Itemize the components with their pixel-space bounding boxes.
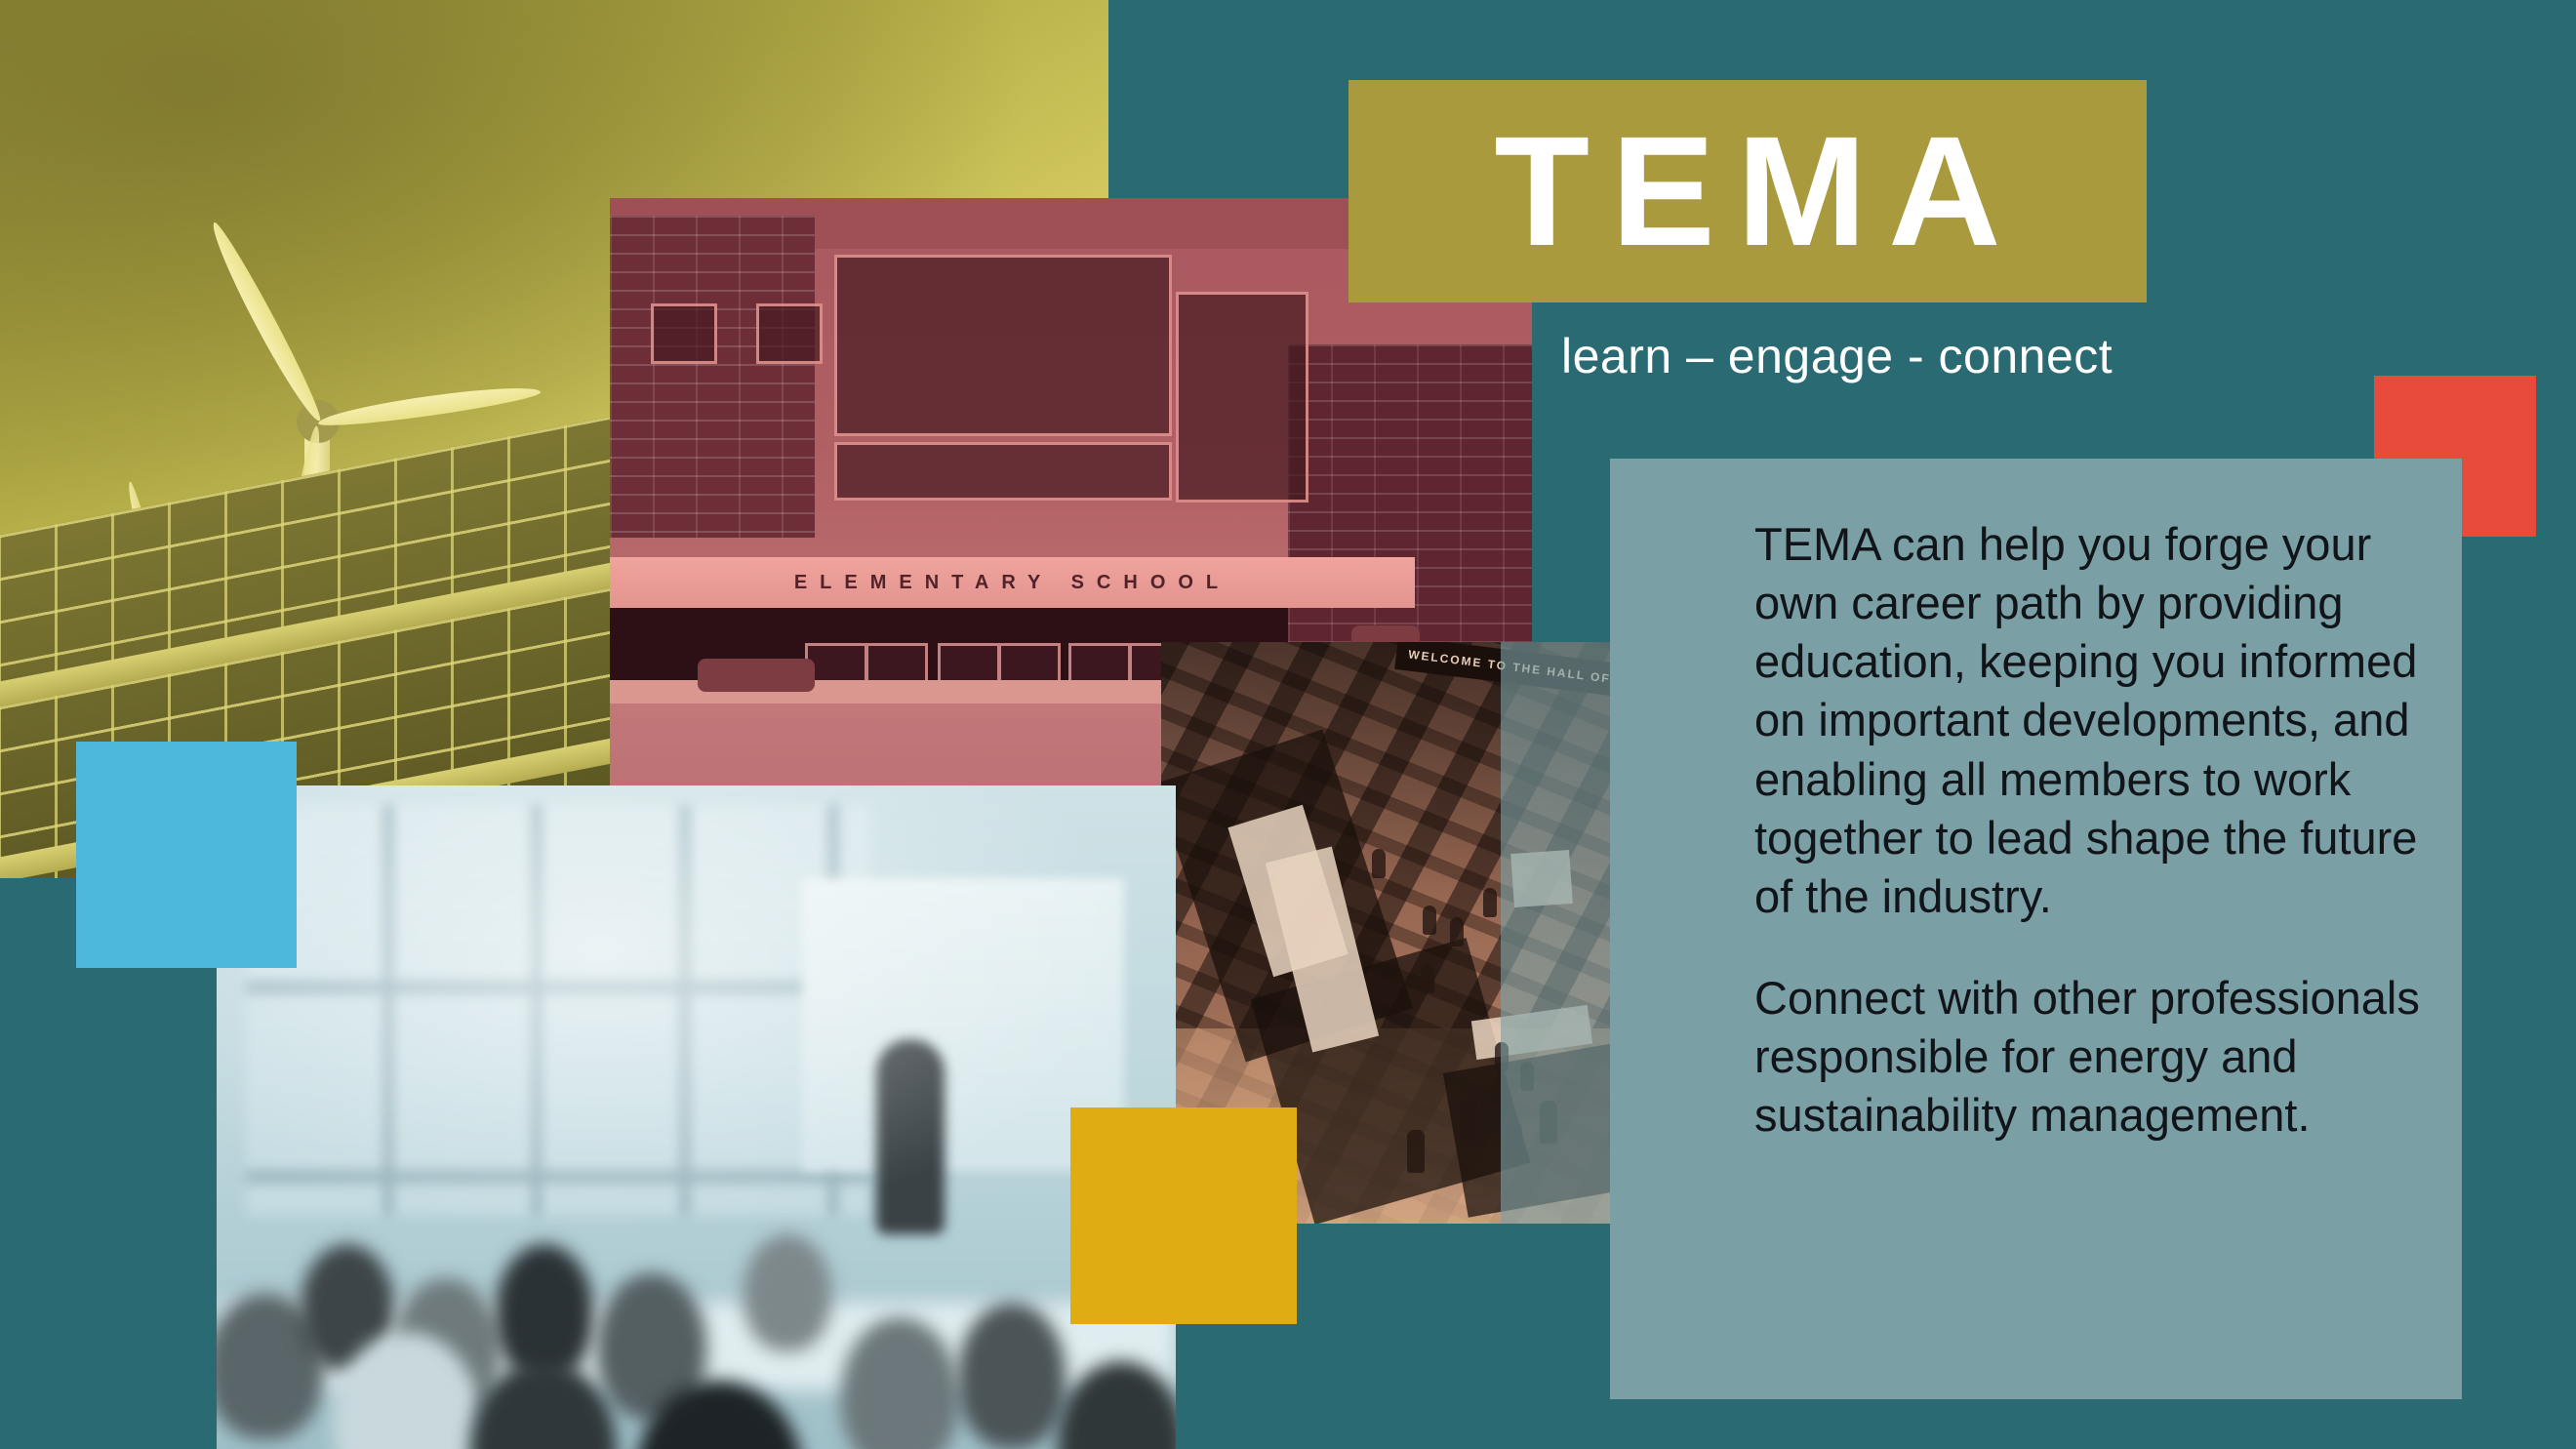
- window: [756, 303, 823, 364]
- accent-square-blue: [76, 742, 297, 968]
- brick-wall-left: [610, 216, 815, 538]
- window-grid: [834, 255, 1172, 436]
- slide-canvas: ELEMENTARY SCHOOL: [0, 0, 2576, 1449]
- attendee: [1540, 1101, 1557, 1144]
- shrub: [698, 659, 815, 692]
- tema-tagline: learn – engage - connect: [1561, 328, 2113, 384]
- window: [651, 303, 717, 364]
- photo-seminar-classroom: [217, 785, 1176, 1449]
- tema-logo-banner: TEMA: [1348, 80, 2147, 302]
- paragraph-1: TEMA can help you forge your own career …: [1754, 515, 2437, 926]
- attendee: [1520, 1062, 1534, 1091]
- accent-square-yellow: [1070, 1107, 1297, 1324]
- attendee: [1505, 1122, 1522, 1163]
- description-text: TEMA can help you forge your own career …: [1754, 515, 2437, 1146]
- attendee: [1421, 964, 1434, 993]
- attendee: [1372, 849, 1386, 878]
- tema-title: TEMA: [1472, 113, 2022, 269]
- window-glare: [217, 785, 1176, 1449]
- window-strip: [834, 442, 1172, 501]
- school-sign-text: ELEMENTARY SCHOOL: [610, 557, 1415, 608]
- window-grid: [1176, 292, 1308, 503]
- attendee: [1450, 917, 1464, 946]
- attendee: [1460, 1099, 1477, 1140]
- description-panel: TEMA can help you forge your own career …: [1610, 459, 2462, 1399]
- display-panel: [1510, 850, 1573, 907]
- paragraph-2: Connect with other professionals respons…: [1754, 969, 2437, 1145]
- attendee: [1495, 1042, 1509, 1071]
- attendee: [1483, 888, 1497, 917]
- attendee: [1407, 1130, 1425, 1173]
- attendee: [1423, 906, 1436, 935]
